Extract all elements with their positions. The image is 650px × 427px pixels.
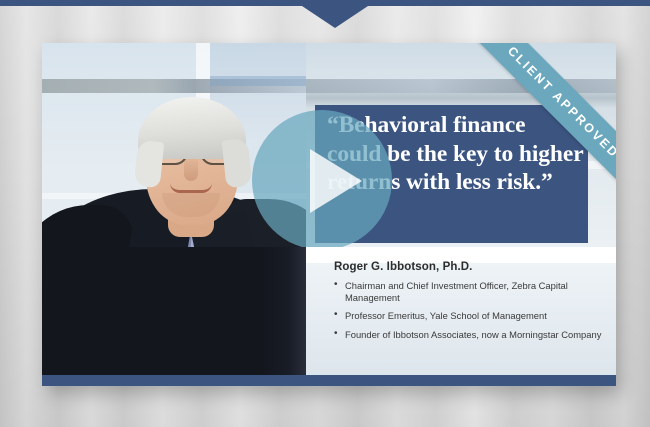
play-triangle-icon[interactable] [310,149,362,213]
speaker-block: Roger G. Ibbotson, Ph.D. Chairman and Ch… [334,261,604,347]
hair-side-left [134,140,165,188]
hair-side-right [222,138,253,188]
screenshot-stage: “Behavioral finance could be the key to … [0,0,650,427]
top-caret-pointer [302,6,368,28]
list-item: Professor Emeritus, Yale School of Manag… [334,310,604,322]
card-bottom-bar [42,375,616,386]
mouth [170,183,212,193]
portrait-lower-extension [42,247,306,375]
list-item: Founder of Ibbotson Associates, now a Mo… [334,329,604,341]
background-band-upper [306,79,616,93]
list-item: Chairman and Chief Investment Officer, Z… [334,280,604,303]
video-testimonial-card[interactable]: “Behavioral finance could be the key to … [42,43,616,386]
speaker-name: Roger G. Ibbotson, Ph.D. [334,261,604,273]
speaker-credentials-list: Chairman and Chief Investment Officer, Z… [334,280,604,340]
